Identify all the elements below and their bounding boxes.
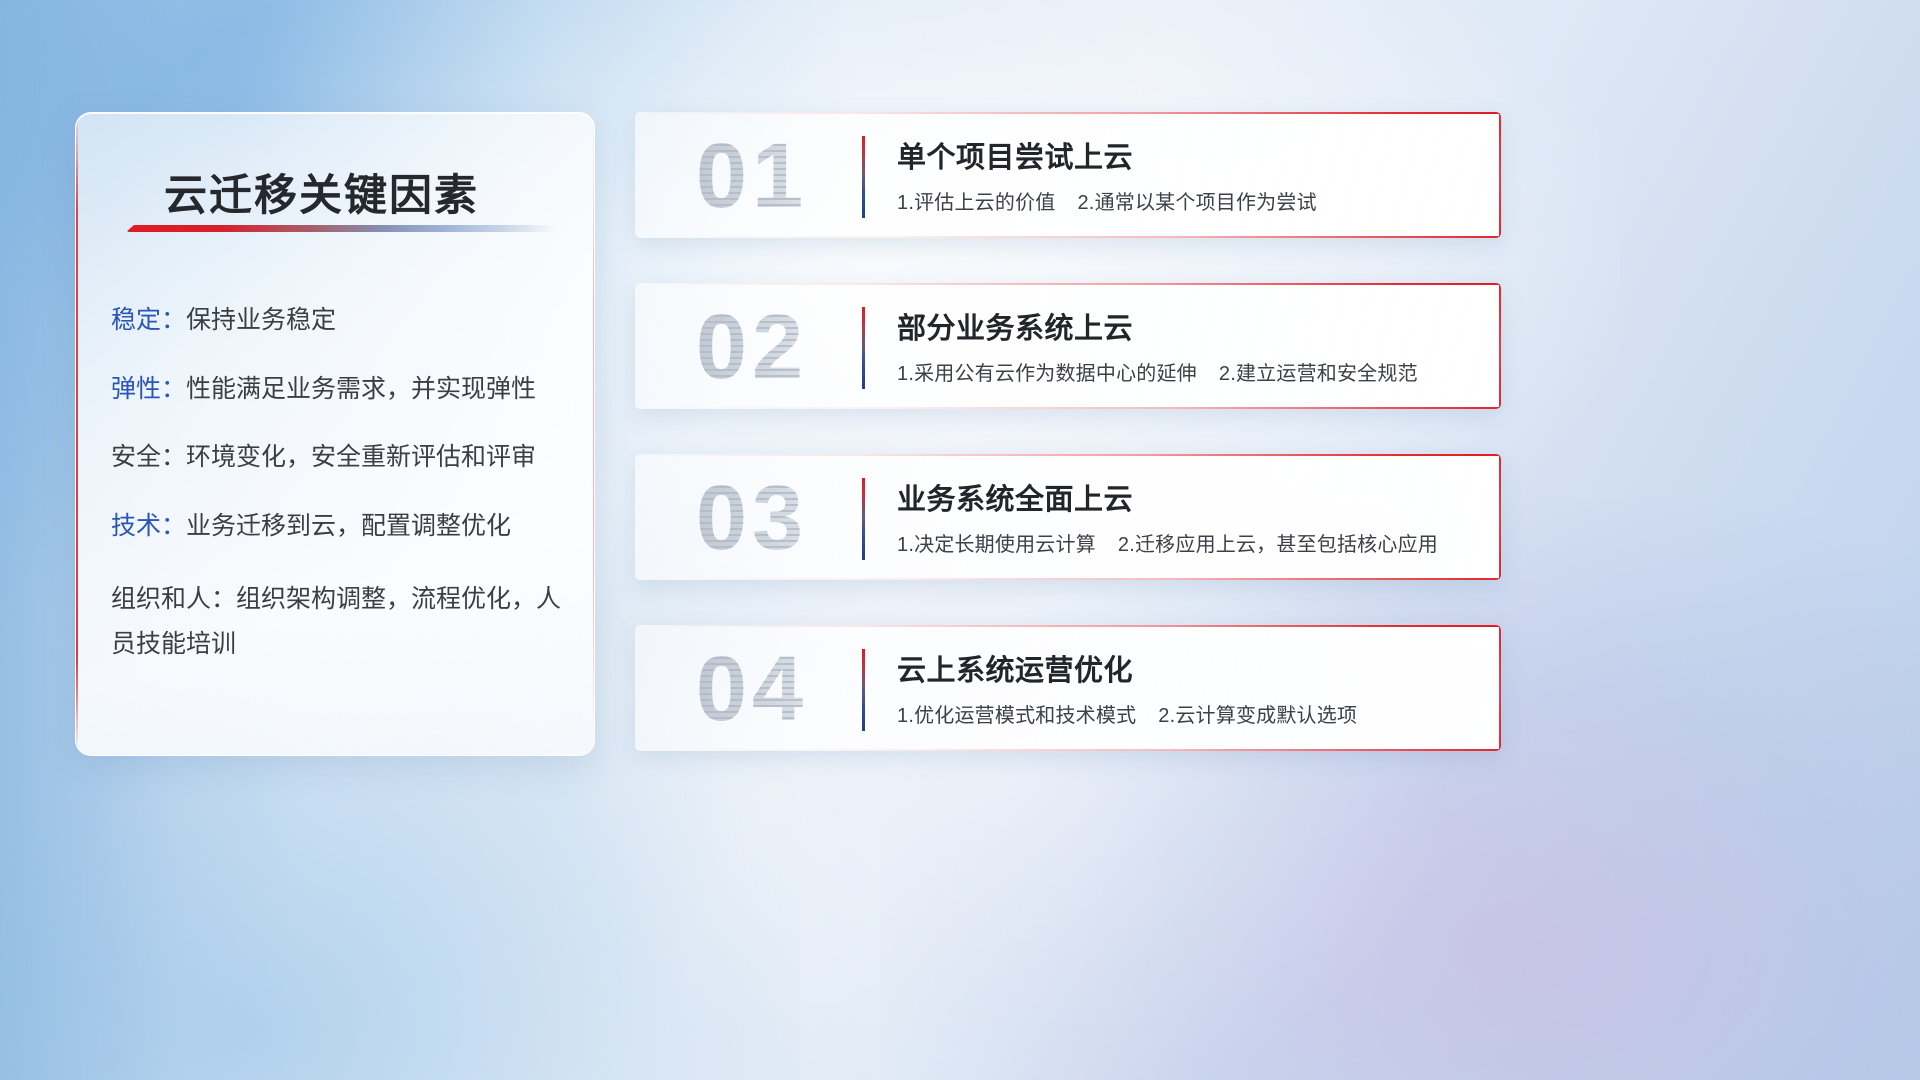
list-item-text: 环境变化，安全重新评估和评审: [186, 443, 536, 471]
stage-description: 1.优化运营模式和技术模式2.云计算变成默认选项: [897, 699, 1357, 728]
title-underline-accent: [126, 225, 556, 232]
stage-divider: [862, 649, 865, 731]
stage-card-03[interactable]: 03 业务系统全面上云 1.决定长期使用云计算2.迁移应用上云，甚至包括核心应用: [635, 454, 1501, 580]
stage-card-04[interactable]: 04 云上系统运营优化 1.优化运营模式和技术模式2.云计算变成默认选项: [635, 625, 1501, 751]
stage-point-2: 2.云计算变成默认选项: [1158, 705, 1357, 727]
stage-title: 部分业务系统上云: [897, 305, 1133, 347]
stage-point-1: 1.优化运营模式和技术模式: [897, 705, 1136, 727]
stage-card-list: 01 单个项目尝试上云 1.评估上云的价值2.通常以某个项目作为尝试 02 部分…: [635, 112, 1501, 751]
list-item-label: 安全：: [111, 443, 186, 471]
stage-title: 云上系统运营优化: [897, 647, 1133, 689]
stage-number: 03: [657, 462, 847, 574]
card-bottom-accent: [635, 236, 1501, 238]
stage-divider: [862, 136, 865, 218]
stage-card-02[interactable]: 02 部分业务系统上云 1.采用公有云作为数据中心的延伸2.建立运营和安全规范: [635, 283, 1501, 409]
list-item: 弹性：性能满足业务需求，并实现弹性: [111, 372, 570, 408]
card-bottom-accent: [635, 407, 1501, 409]
card-top-accent: [635, 454, 1501, 456]
card-top-accent: [635, 112, 1501, 114]
stage-title: 单个项目尝试上云: [897, 134, 1133, 176]
stage-description: 1.决定长期使用云计算2.迁移应用上云，甚至包括核心应用: [897, 528, 1438, 557]
card-right-accent: [1499, 454, 1501, 580]
stage-point-2: 2.迁移应用上云，甚至包括核心应用: [1118, 534, 1438, 556]
stage-number: 01: [657, 120, 847, 232]
card-bottom-accent: [635, 749, 1501, 751]
list-item-text: 性能满足业务需求，并实现弹性: [186, 375, 536, 403]
card-top-accent: [635, 283, 1501, 285]
stage-title: 业务系统全面上云: [897, 476, 1133, 518]
list-item: 安全：环境变化，安全重新评估和评审: [111, 440, 570, 476]
stage-divider: [862, 478, 865, 560]
list-item-text: 业务迁移到云，配置调整优化: [186, 512, 511, 540]
stage-point-1: 1.评估上云的价值: [897, 192, 1055, 214]
page-title: 云迁移关键因素: [164, 161, 479, 223]
card-right-accent: [1499, 625, 1501, 751]
key-factors-list: 稳定：保持业务稳定 弹性：性能满足业务需求，并实现弹性 安全：环境变化，安全重新…: [111, 303, 570, 699]
stage-point-2: 2.通常以某个项目作为尝试: [1077, 192, 1316, 214]
stage-number: 04: [657, 633, 847, 745]
list-item-label: 弹性：: [111, 375, 186, 403]
list-item-text: 保持业务稳定: [186, 306, 336, 334]
list-item: 技术：业务迁移到云，配置调整优化: [111, 509, 570, 545]
list-item-label: 技术：: [111, 512, 186, 540]
stage-point-2: 2.建立运营和安全规范: [1219, 363, 1418, 385]
list-item-label: 组织和人：: [111, 585, 236, 613]
list-item: 组织和人：组织架构调整，流程优化，人员技能培训: [111, 577, 570, 666]
card-top-accent: [635, 625, 1501, 627]
stage-card-01[interactable]: 01 单个项目尝试上云 1.评估上云的价值2.通常以某个项目作为尝试: [635, 112, 1501, 238]
stage-point-1: 1.决定长期使用云计算: [897, 534, 1096, 556]
card-right-accent: [1499, 283, 1501, 409]
card-bottom-accent: [635, 578, 1501, 580]
stage-description: 1.采用公有云作为数据中心的延伸2.建立运营和安全规范: [897, 357, 1418, 386]
stage-description: 1.评估上云的价值2.通常以某个项目作为尝试: [897, 186, 1317, 215]
list-item: 稳定：保持业务稳定: [111, 303, 570, 339]
list-item-label: 稳定：: [111, 306, 186, 334]
key-factors-card: 云迁移关键因素 稳定：保持业务稳定 弹性：性能满足业务需求，并实现弹性 安全：环…: [75, 112, 595, 756]
stage-number: 02: [657, 291, 847, 403]
card-right-accent: [1499, 112, 1501, 238]
stage-point-1: 1.采用公有云作为数据中心的延伸: [897, 363, 1197, 385]
stage-divider: [862, 307, 865, 389]
